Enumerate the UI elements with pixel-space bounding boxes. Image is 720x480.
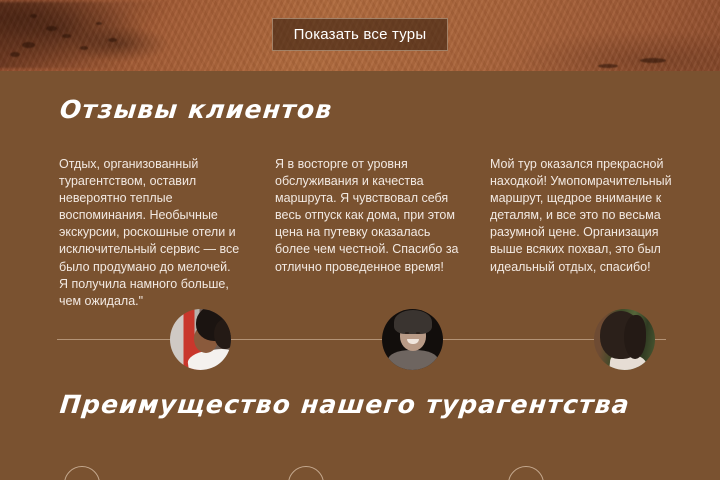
review-text: Мой тур оказался прекрасной находкой! Ум… — [490, 156, 674, 276]
reviews-divider — [57, 339, 666, 340]
sand-speck — [30, 14, 37, 18]
avatar-eye — [405, 332, 409, 334]
avatar-eye — [416, 332, 420, 334]
hero-desert-image: Показать все туры — [0, 0, 720, 71]
sand-speck — [80, 46, 88, 50]
sand-speck — [108, 38, 117, 42]
show-all-tours-button[interactable]: Показать все туры — [272, 18, 448, 51]
sand-speck — [96, 22, 102, 25]
feature-circle-icon-1 — [64, 466, 100, 480]
avatar-hair — [624, 315, 646, 359]
landing-page: Показать все туры Отзывы клиентов Отдых,… — [0, 0, 720, 480]
avatar-hair — [394, 310, 432, 334]
avatar-clothing — [388, 350, 438, 370]
sand-speck — [10, 52, 20, 57]
hero-dune-shadow — [0, 2, 200, 68]
advantages-heading: Преимущество нашего турагентства — [58, 390, 631, 419]
avatar-hair — [214, 319, 231, 349]
avatar — [594, 309, 655, 370]
sand-speck — [598, 64, 618, 68]
reviews-heading: Отзывы клиентов — [58, 95, 334, 124]
review-text: Отдых, организованный турагентством, ост… — [59, 156, 243, 310]
review-text: Я в восторге от уровня обслуживания и ка… — [275, 156, 459, 276]
sand-speck — [640, 58, 666, 63]
sand-speck — [46, 26, 57, 31]
sand-speck — [22, 42, 35, 48]
avatar — [382, 309, 443, 370]
sand-speck — [62, 34, 71, 38]
feature-circle-icon-3 — [508, 466, 544, 480]
avatar — [170, 309, 231, 370]
feature-circle-icon-2 — [288, 466, 324, 480]
